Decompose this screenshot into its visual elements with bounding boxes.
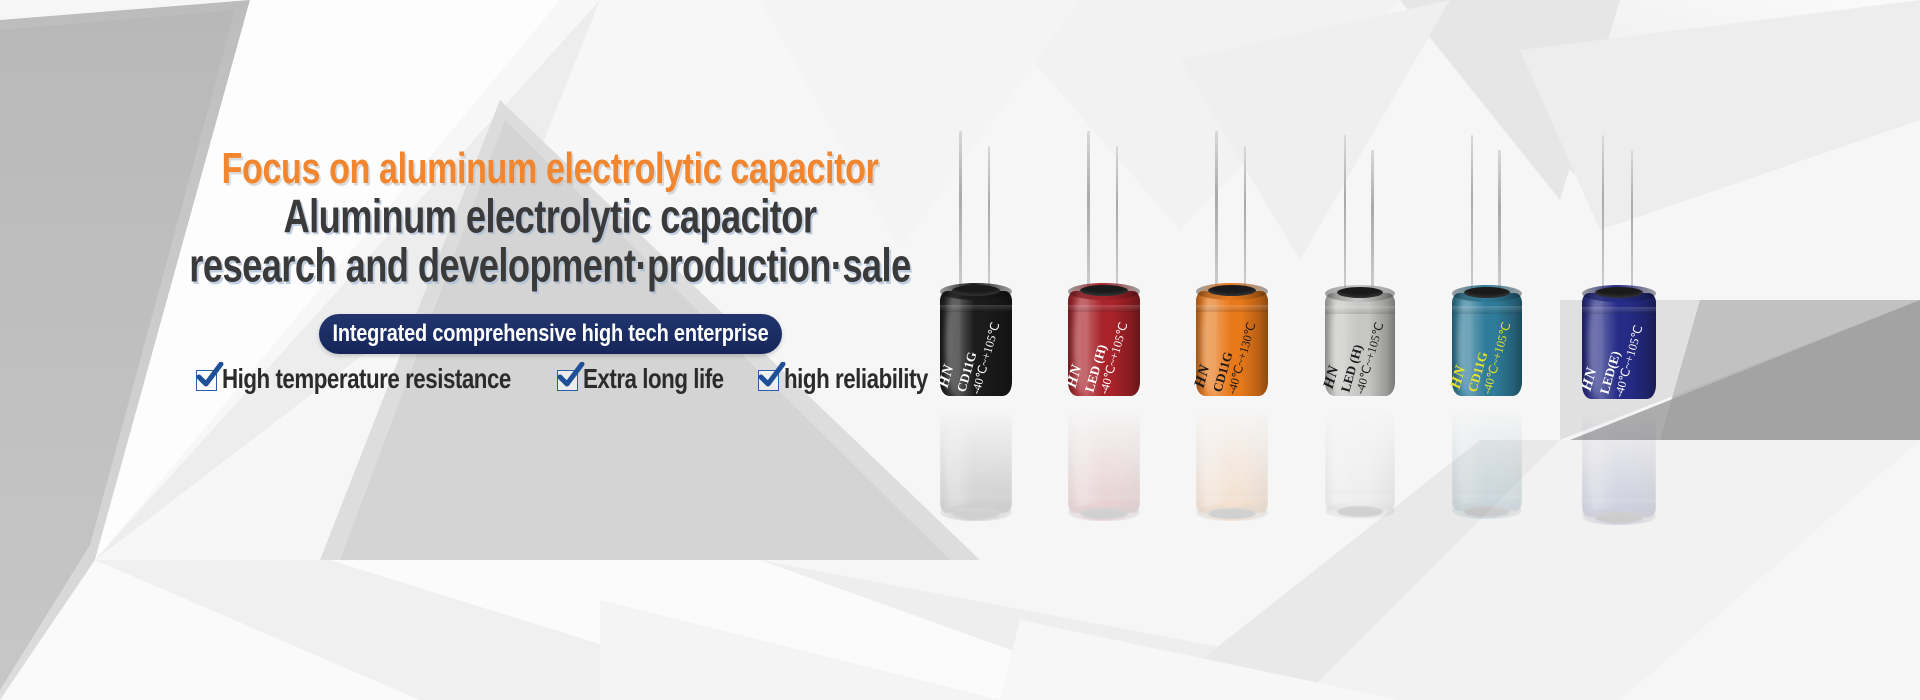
- capacitor-red-body: [1068, 408, 1140, 513]
- capacitor-teal-lead-right: [1498, 150, 1500, 295]
- feature-label: high reliability: [784, 364, 928, 396]
- headline-line-2: research and development·production·sale: [187, 242, 912, 292]
- capacitor-orange-lead-right: [1244, 146, 1246, 293]
- capacitor-navy-reflection: [1582, 405, 1656, 525]
- body-groove: [1452, 306, 1522, 313]
- capacitor-orange-top: [1208, 508, 1256, 519]
- capacitor-navy-lead-right: [1631, 150, 1633, 295]
- feature-item-extra-long-life: Extra long life: [557, 366, 734, 394]
- body-groove: [1068, 305, 1140, 312]
- capacitor-silver-body: [1325, 408, 1395, 511]
- capacitor-navy-lead-left: [1602, 135, 1604, 295]
- enterprise-badge-label: Integrated comprehensive high tech enter…: [332, 320, 768, 347]
- capacitor-navy-top: [1595, 287, 1644, 298]
- body-groove: [1196, 305, 1268, 312]
- capacitor-black-lead-left: [959, 131, 961, 293]
- capacitor-navy-top: [1595, 512, 1644, 523]
- body-groove: [1582, 496, 1656, 503]
- capacitor-red-reflection: [1068, 402, 1140, 521]
- body-groove: [1196, 492, 1268, 499]
- capacitor-red: HNLED (H)-40℃~+105℃: [1068, 131, 1140, 508]
- checkbox-checked-icon: [557, 370, 578, 391]
- capacitor-silver-lead-left: [1344, 135, 1346, 295]
- capacitor-silver-lead-right: [1371, 150, 1373, 295]
- body-groove: [1582, 307, 1656, 314]
- capacitor-navy: HNLED(E)-40℃~+105℃: [1582, 135, 1656, 511]
- hero-banner: Focus on aluminum electrolytic capacitor…: [0, 0, 1920, 700]
- checkbox-checked-icon: [196, 370, 217, 391]
- capacitor-red-lead-left: [1087, 131, 1089, 293]
- headline-line-1: Aluminum electrolytic capacitor: [284, 192, 817, 244]
- body-groove: [1452, 490, 1522, 497]
- capacitor-black-body: [940, 291, 1012, 396]
- checkbox-checked-icon: [758, 370, 779, 391]
- capacitor-teal-top: [1464, 506, 1510, 517]
- capacitor-navy-body: [1582, 411, 1656, 517]
- body-groove: [1325, 490, 1395, 497]
- capacitor-black-top: [952, 285, 1000, 296]
- capacitor-orange-reflection: [1196, 402, 1268, 521]
- headline-block: Focus on aluminum electrolytic capacitor…: [160, 150, 940, 354]
- body-groove: [940, 305, 1012, 312]
- capacitor-silver-reflection: [1325, 402, 1395, 519]
- feature-list: High temperature resistance Extra long l…: [196, 366, 939, 394]
- body-groove: [940, 492, 1012, 499]
- enterprise-badge: Integrated comprehensive high tech enter…: [319, 314, 782, 354]
- capacitor-red-lead-right: [1116, 146, 1118, 293]
- capacitor-silver-body: [1325, 293, 1395, 396]
- capacitor-orange-top: [1208, 285, 1256, 296]
- body-groove: [1068, 492, 1140, 499]
- capacitor-black-reflection: [940, 402, 1012, 521]
- feature-item-high-reliability: high reliability: [758, 366, 939, 394]
- capacitor-red-body: [1068, 291, 1140, 396]
- capacitor-teal-body: [1452, 293, 1522, 396]
- capacitor-silver: HNLED (H)-40℃~+105℃: [1325, 135, 1395, 508]
- feature-item-high-temperature-resistance: High temperature resistance: [196, 366, 533, 394]
- capacitor-red-top: [1080, 285, 1128, 296]
- page-title: Aluminum electrolytic capacitor research…: [187, 193, 912, 292]
- capacitor-teal-body: [1452, 408, 1522, 511]
- capacitor-silver-top: [1337, 287, 1383, 298]
- capacitor-orange-body: [1196, 408, 1268, 513]
- capacitor-black-lead-right: [988, 146, 990, 293]
- capacitor-teal: HNCD11G-40℃~+105℃: [1452, 135, 1522, 508]
- capacitor-black-body: [940, 408, 1012, 513]
- capacitor-navy-body: [1582, 293, 1656, 399]
- capacitor-teal-top: [1464, 287, 1510, 298]
- capacitor-teal-lead-left: [1471, 135, 1473, 295]
- capacitor-orange-body: [1196, 291, 1268, 396]
- capacitor-red-top: [1080, 508, 1128, 519]
- capacitor-orange-lead-left: [1215, 131, 1217, 293]
- body-groove: [1325, 306, 1395, 313]
- capacitor-silver-top: [1337, 506, 1383, 517]
- capacitor-black: HNCD11G-40℃~+105℃: [940, 131, 1012, 508]
- feature-label: High temperature resistance: [222, 364, 511, 396]
- feature-label: Extra long life: [583, 364, 724, 396]
- capacitor-black-top: [952, 508, 1000, 519]
- capacitor-orange: HNCD11G-40℃~+130℃: [1196, 131, 1268, 508]
- tagline: Focus on aluminum electrolytic capacitor: [191, 147, 909, 191]
- capacitor-teal-reflection: [1452, 402, 1522, 519]
